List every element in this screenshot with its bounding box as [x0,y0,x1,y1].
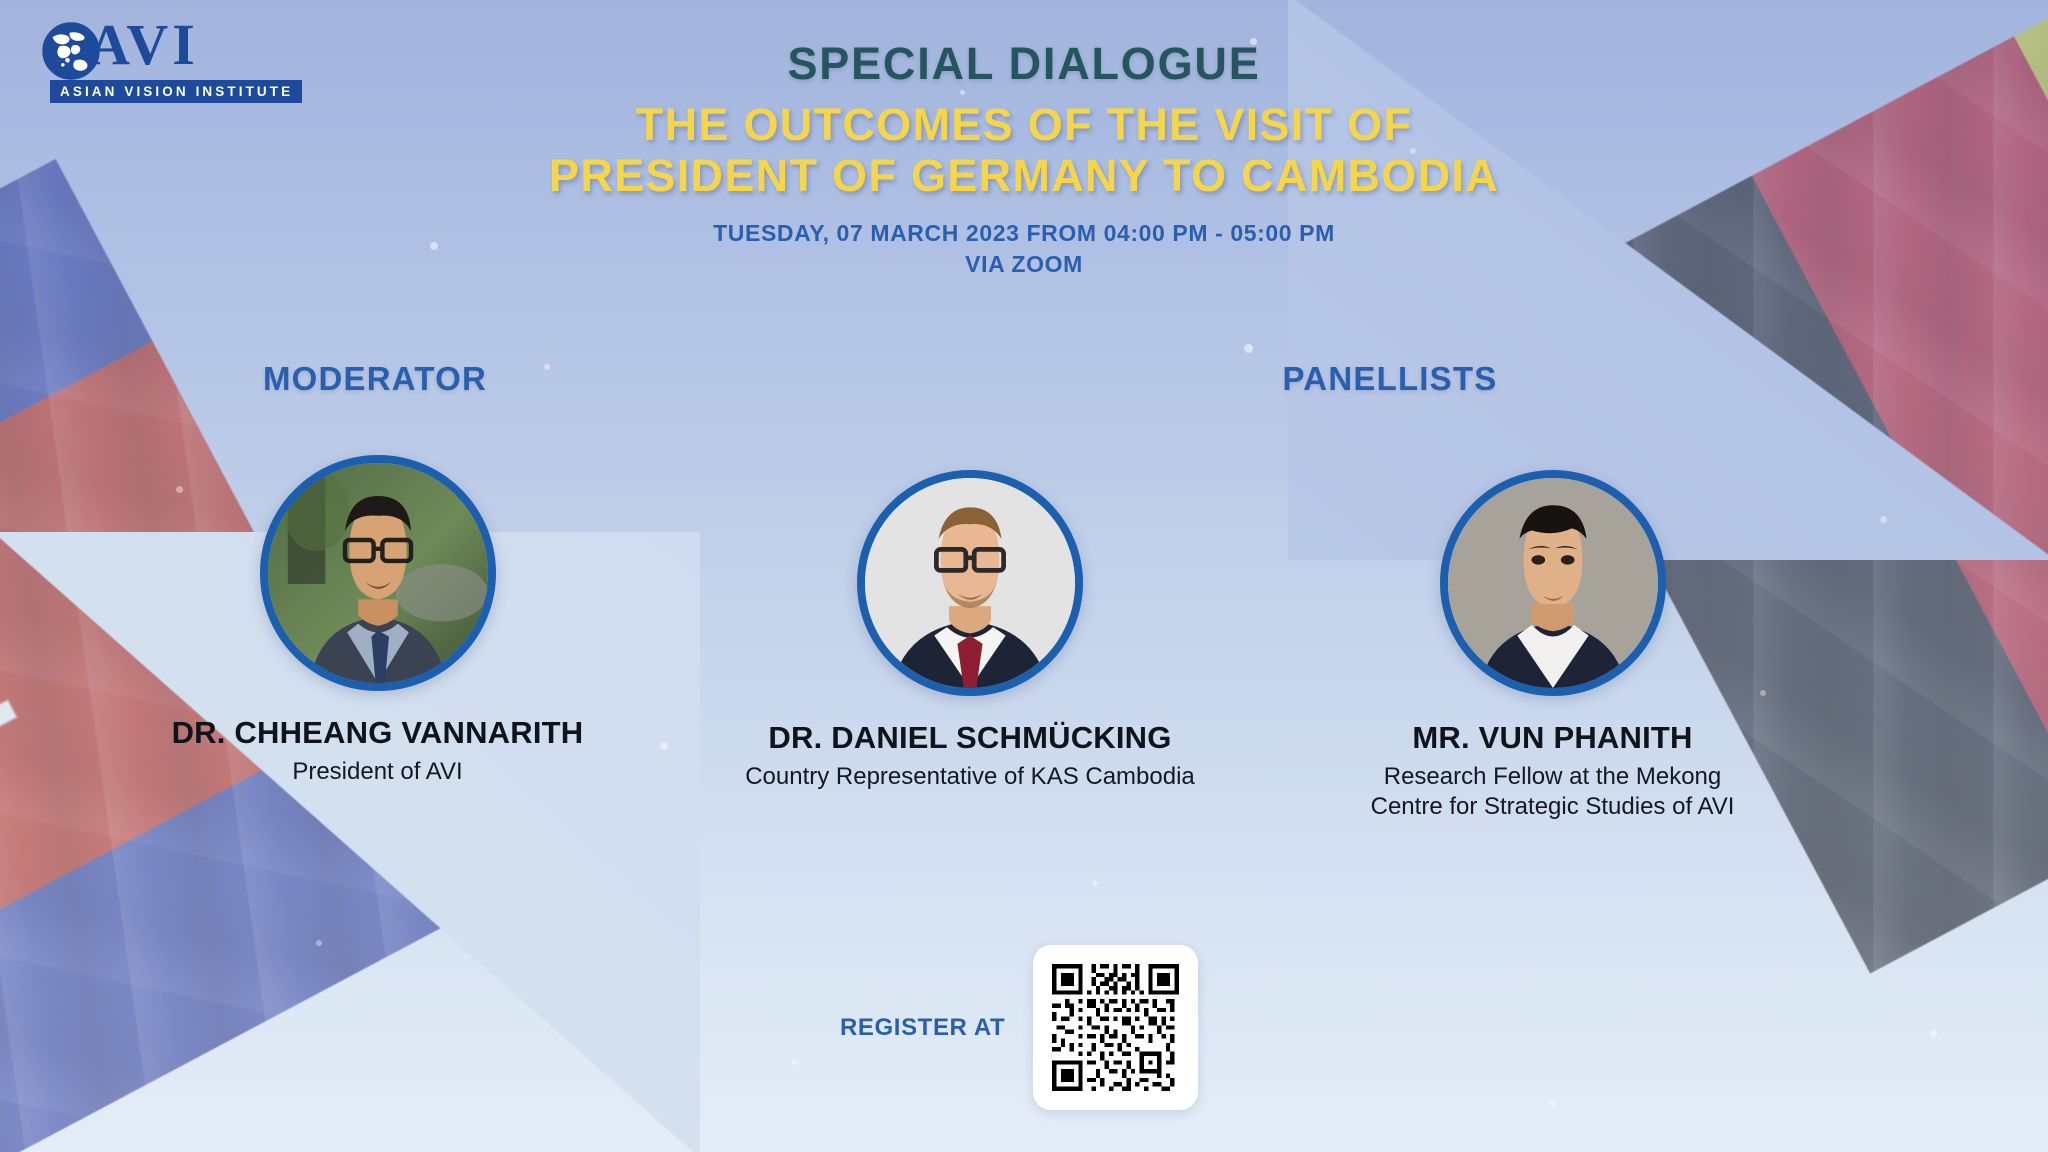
event-title: THE OUTCOMES OF THE VISIT OF PRESIDENT O… [0,99,2048,203]
event-kicker: SPECIAL DIALOGUE [0,40,2048,89]
event-title-line2: PRESIDENT OF GERMANY TO CAMBODIA [0,150,2048,202]
bokeh-dot [1092,880,1098,886]
speaker-card-panellist-1: DR. DANIEL SCHMÜCKING Country Representa… [680,470,1260,792]
speaker-name: DR. DANIEL SCHMÜCKING [680,720,1260,756]
qr-code-icon[interactable] [1052,964,1179,1091]
speaker-card-moderator: DR. CHHEANG VANNARITH President of AVI [90,455,665,787]
avatar [1440,470,1666,696]
panellists-section-label: PANELLISTS [1283,360,1498,398]
bokeh-dot [1880,516,1887,523]
bokeh-dot [544,364,550,370]
speaker-name: MR. VUN PHANITH [1270,720,1835,756]
speaker-role: Research Fellow at the Mekong Centre for… [1270,762,1835,823]
avatar [260,455,496,691]
bokeh-dot [316,940,322,946]
speaker-role: Country Representative of KAS Cambodia [680,762,1260,793]
bokeh-dot [792,1060,797,1065]
event-poster: AVI ASIAN VISION INSTITUTE SPECIAL DIALO… [0,0,2048,1152]
event-datetime-block: TUESDAY, 07 MARCH 2023 FROM 04:00 PM - 0… [0,218,2048,280]
speaker-role-line1: Research Fellow at the Mekong [1270,762,1835,793]
speaker-role-line1: President of AVI [90,757,665,788]
register-section: REGISTER AT [840,945,1198,1110]
speaker-card-panellist-2: MR. VUN PHANITH Research Fellow at the M… [1270,470,1835,823]
speaker-role-line1: Country Representative of KAS Cambodia [680,762,1260,793]
portrait-photo-vun-phanith [1448,478,1658,688]
speaker-name: DR. CHHEANG VANNARITH [90,715,665,751]
angkor-wat-icon [0,551,42,932]
bokeh-dot [1244,344,1253,353]
bokeh-dot [1550,1100,1556,1106]
speaker-role: President of AVI [90,757,665,788]
event-datetime: TUESDAY, 07 MARCH 2023 FROM 04:00 PM - 0… [0,218,2048,249]
headline-block: SPECIAL DIALOGUE THE OUTCOMES OF THE VIS… [0,40,2048,280]
speaker-role-line2: Centre for Strategic Studies of AVI [1270,792,1835,823]
portrait-photo-daniel-schmucking [865,478,1075,688]
moderator-section-label: MODERATOR [263,360,487,398]
event-platform: VIA ZOOM [0,249,2048,280]
register-label: REGISTER AT [840,1014,1005,1042]
avatar [857,470,1083,696]
portrait-photo-chheang-vannarith [268,463,488,683]
bokeh-dot [1930,1030,1937,1037]
event-title-line1: THE OUTCOMES OF THE VISIT OF [0,99,2048,151]
qr-code-card[interactable] [1033,945,1198,1110]
